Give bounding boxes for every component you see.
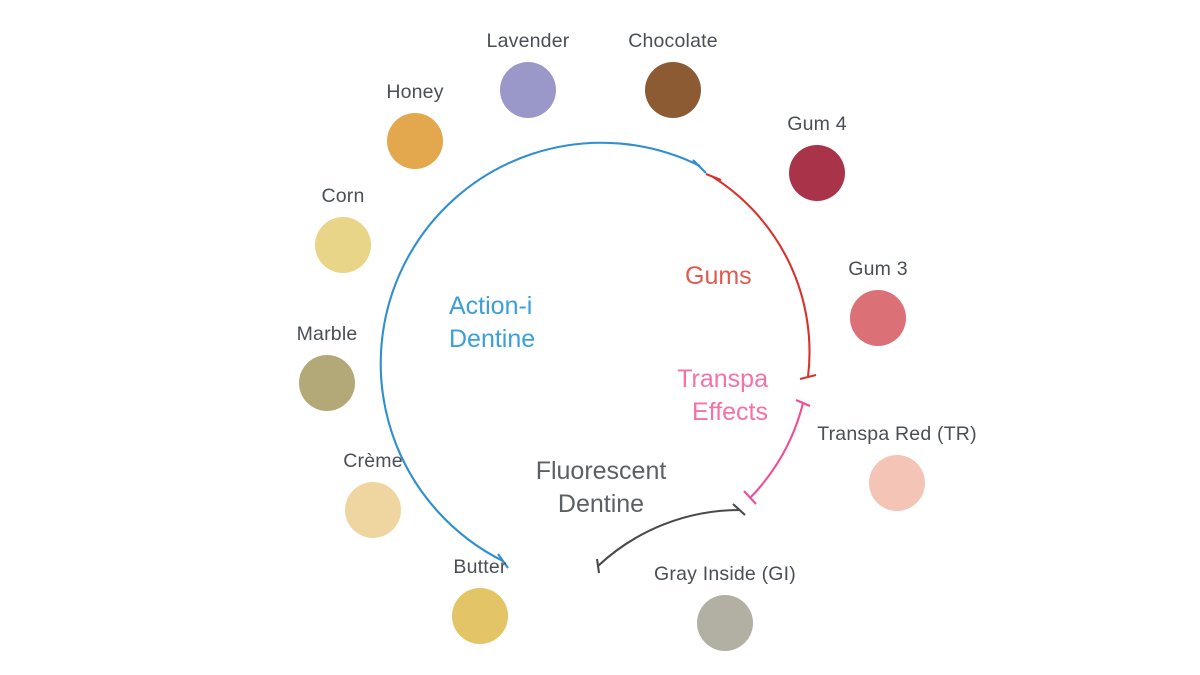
category-label-action-i-dentine: Action-i Dentine: [449, 290, 535, 356]
category-label-fluorescent-dentine: Fluorescent Dentine: [471, 455, 731, 521]
swatch-marble[interactable]: Marble: [242, 323, 412, 411]
swatch-dot: [452, 588, 508, 644]
swatch-gum-4[interactable]: Gum 4: [732, 113, 902, 201]
category-label-transpa-effects: Transpa Effects: [603, 363, 768, 429]
category-label-line: Action-i: [449, 290, 535, 323]
color-wheel-diagram: Action-i Dentine Gums Transpa Effects Fl…: [0, 0, 1200, 675]
swatch-label: Chocolate: [588, 30, 758, 53]
swatch-gum-3[interactable]: Gum 3: [793, 258, 963, 346]
swatch-creme[interactable]: Crème: [288, 450, 458, 538]
swatch-dot: [315, 217, 371, 273]
swatch-dot: [789, 145, 845, 201]
swatch-dot: [645, 62, 701, 118]
swatch-dot: [500, 62, 556, 118]
swatch-label: Gray Inside (GI): [640, 563, 810, 586]
swatch-label: Butter: [395, 556, 565, 579]
swatch-label: Transpa Red (TR): [812, 423, 982, 446]
category-label-line: Effects: [603, 396, 768, 429]
swatch-label: Honey: [330, 81, 500, 104]
category-label-line: Fluorescent: [471, 455, 731, 488]
category-label-line: Dentine: [471, 488, 731, 521]
category-label-gums: Gums: [685, 260, 752, 293]
swatch-corn[interactable]: Corn: [258, 185, 428, 273]
swatch-honey[interactable]: Honey: [330, 81, 500, 169]
swatch-chocolate[interactable]: Chocolate: [588, 30, 758, 118]
swatch-gray-inside[interactable]: Gray Inside (GI): [640, 563, 810, 651]
swatch-dot: [387, 113, 443, 169]
swatch-butter[interactable]: Butter: [395, 556, 565, 644]
swatch-label: Gum 4: [732, 113, 902, 136]
swatch-label: Gum 3: [793, 258, 963, 281]
swatch-label: Corn: [258, 185, 428, 208]
swatch-dot: [850, 290, 906, 346]
swatch-dot: [869, 455, 925, 511]
swatch-label: Crème: [288, 450, 458, 473]
category-label-line: Transpa: [603, 363, 768, 396]
swatch-dot: [697, 595, 753, 651]
swatch-transpa-red[interactable]: Transpa Red (TR): [812, 423, 982, 511]
swatch-label: Marble: [242, 323, 412, 346]
category-label-line: Dentine: [449, 323, 535, 356]
swatch-dot: [299, 355, 355, 411]
swatch-dot: [345, 482, 401, 538]
category-label-line: Gums: [685, 260, 752, 293]
